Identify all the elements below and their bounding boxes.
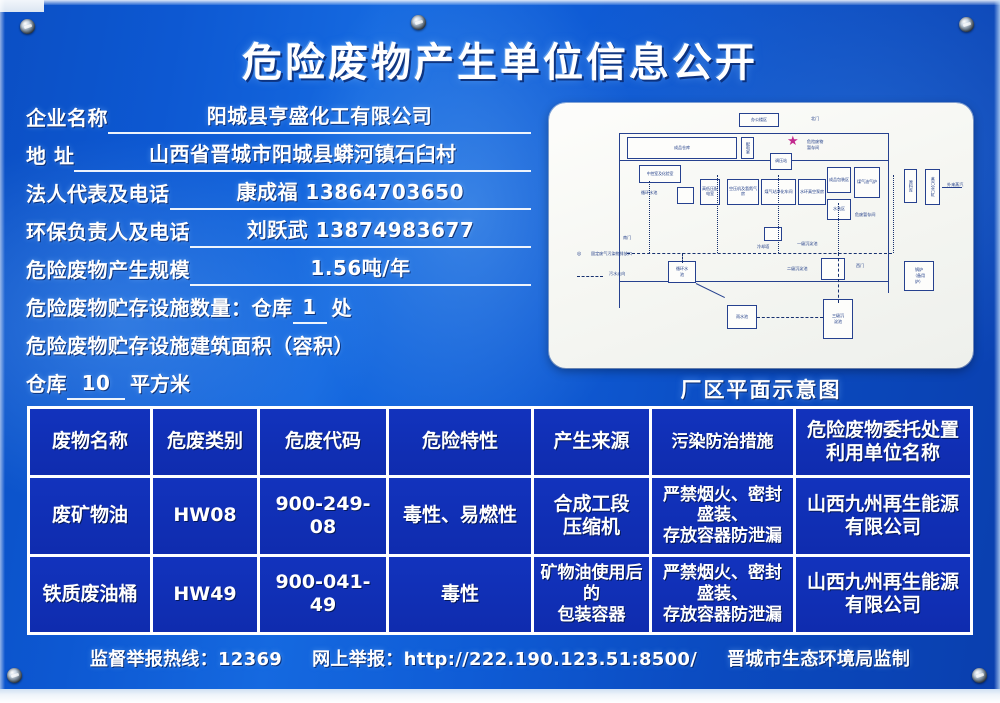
- building-circulating-water-pool: 循环水池: [668, 261, 696, 283]
- building-steam-manifold: 蒸汽分汽缸: [925, 169, 940, 205]
- building-packaging-area: 成品包装区: [827, 167, 851, 193]
- legend-dashdot-line-icon: [577, 276, 603, 277]
- building-raw-material-store: 原料库: [904, 169, 917, 203]
- cell-control-measures: 严禁烟火、密封盛装、存放容器防泄漏: [652, 557, 796, 633]
- building-gas-oil-furnace: 煤气油气炉: [854, 167, 880, 198]
- value-warehouse-area: 10: [67, 371, 125, 400]
- building-vacuum-pump-room: 水环真空泵房: [798, 179, 826, 205]
- building-cooling-water-pool: [677, 187, 694, 204]
- hazardous-waste-star-marker: ★: [787, 135, 799, 148]
- sewage-diagonal: [696, 283, 725, 298]
- header-waste-code: 危废代码: [260, 409, 389, 475]
- gate-label-south: 南门: [623, 236, 631, 241]
- info-row-company-name: 企业名称 阳城县亨盛化工有限公司: [26, 96, 531, 134]
- arrow-external-steam: [942, 187, 962, 188]
- table-row: 废矿物油 HW08 900-249-08 毒性、易燃性 合成工段压缩机 严禁烟火…: [30, 475, 970, 554]
- building-control-lab-room: 中控室及化验室: [639, 165, 681, 183]
- footer-online-report: 网上举报：http://222.190.123.51:8500/: [312, 645, 697, 671]
- info-row-area-value: 仓库 10 平方米: [26, 362, 531, 400]
- company-info-block: 企业名称 阳城县亨盛化工有限公司 地 址 山西省晋城市阳城县蟒河镇石臼村 法人代…: [26, 96, 531, 400]
- value-env-officer: 刘跃武 13874983677: [190, 214, 531, 248]
- cell-disposal-unit: 山西九州再生能源有限公司: [796, 557, 970, 633]
- diagram-caption: 厂区平面示意图: [549, 374, 973, 404]
- sewage-line-to-settling: [838, 253, 839, 303]
- label-storage-area: 危险废物贮存设施建筑面积（容积）: [26, 330, 354, 362]
- footer-issuer: 晋城市生态环境局监制: [727, 645, 910, 671]
- perimeter-wall-bottom: [619, 281, 889, 282]
- cell-disposal-unit: 山西九州再生能源有限公司: [796, 478, 970, 554]
- cell-source: 矿物油使用后的包装容器: [534, 557, 652, 633]
- perimeter-wall-right: [888, 133, 889, 293]
- plate-edge-bottom: [0, 689, 1000, 703]
- label-facility-count: 危险废物贮存设施数量：仓库: [26, 292, 293, 324]
- label-env-officer: 环保负责人及电话: [26, 216, 190, 248]
- building-power-distribution-room: 配电室: [741, 137, 754, 159]
- cell-hazard-property: 毒性: [389, 557, 534, 633]
- info-row-waste-scale: 危险废物产生规模 1.56吨/年: [26, 248, 531, 286]
- annotation-hazwaste-room: 危废暂存间: [855, 213, 875, 218]
- label-address: 地 址: [26, 140, 74, 172]
- footer-hotline: 监督举报热线：12369: [90, 645, 282, 671]
- annotation-primary-settling: 一级沉淀池: [797, 242, 817, 247]
- information-board: 危险废物产生单位信息公开 企业名称 阳城县亨盛化工有限公司 地 址 山西省晋城市…: [0, 0, 1000, 703]
- road-dotted-1: [649, 181, 650, 253]
- road-dotted-5: [893, 175, 894, 253]
- label-hazardous-waste-storage: 危险废物暂存间: [807, 139, 823, 151]
- plate-edge-top: [0, 0, 1000, 5]
- building-boiler-backup: 锅炉（备用炉）: [904, 261, 934, 291]
- hazardous-waste-table: 废物名称 危废类别 危废代码 危险特性 产生来源 污染防治措施 危险废物委托处置…: [27, 406, 973, 635]
- factory-layout-diagram: 成品仓库 办公楼区 配电室 北门 ★ 危险废物暂存间 中控室及化验室 循环水池 …: [549, 103, 973, 368]
- label-waste-scale: 危险废物产生规模: [26, 254, 190, 286]
- road-dotted-3: [778, 175, 779, 253]
- label-cooling-tower: 冷却塔: [757, 245, 769, 250]
- building-cooling-tower: [764, 227, 782, 241]
- plate-edge-right: [994, 0, 1000, 703]
- label-secondary-settling: 二级沉淀池: [787, 267, 807, 272]
- info-row-env-officer: 环保负责人及电话 刘跃武 13874983677: [26, 210, 531, 248]
- info-row-facility-count: 危险废物贮存设施数量：仓库 1 处: [26, 286, 531, 324]
- building-office-area: 办公楼区: [739, 113, 779, 127]
- gate-label-north: 北门: [811, 117, 819, 122]
- building-secondary-settling-tank: [821, 258, 845, 280]
- legend-text-emission-outlet: 固定废气污染物排放口: [591, 252, 632, 257]
- value-legal-rep: 康成福 13864703650: [170, 176, 532, 210]
- label-legal-rep: 法人代表及电话: [26, 178, 170, 210]
- sewage-line-main: [627, 253, 892, 254]
- building-rainwater-pool: 雨水池: [727, 305, 757, 329]
- info-row-area-label: 危险废物贮存设施建筑面积（容积）: [26, 324, 531, 362]
- sewage-line-to-circ-pool: [682, 253, 683, 263]
- building-tertiary-settling-tank: 三级沉淀池: [823, 299, 853, 339]
- cell-source: 合成工段压缩机: [534, 478, 652, 554]
- building-water-wash-area: 水洗区: [827, 199, 851, 220]
- unit-warehouse-area: 平方米: [125, 368, 190, 400]
- page-title: 危险废物产生单位信息公开: [0, 30, 1000, 88]
- cell-waste-code: 900-041-49: [260, 557, 389, 633]
- plate-edge-top-left: [0, 0, 44, 12]
- info-row-legal-rep: 法人代表及电话 康成福 13864703650: [26, 172, 531, 210]
- header-control-measures: 污染防治措施: [652, 409, 796, 475]
- value-address: 山西省晋城市阳城县蟒河镇石臼村: [74, 138, 531, 172]
- value-facility-count: 1: [293, 295, 327, 324]
- cell-waste-name: 铁质废油桶: [30, 557, 153, 633]
- cell-waste-code: 900-249-08: [260, 478, 389, 554]
- plate-edge-left: [0, 0, 5, 703]
- label-company-name: 企业名称: [26, 102, 108, 134]
- header-waste-category: 危废类别: [153, 409, 260, 475]
- footer-bar: 监督举报热线：12369 网上举报：http://222.190.123.51:…: [0, 645, 1000, 671]
- value-company-name: 阳城县亨盛化工有限公司: [108, 100, 531, 134]
- perimeter-wall-top: [619, 133, 889, 134]
- gate-label-west: 西门: [856, 264, 864, 269]
- label-warehouse: 仓库: [26, 368, 67, 400]
- header-source: 产生来源: [534, 409, 652, 475]
- info-row-address: 地 址 山西省晋城市阳城县蟒河镇石臼村: [26, 134, 531, 172]
- building-pressure-station: 调压站: [770, 153, 792, 170]
- cell-waste-category: HW08: [153, 478, 260, 554]
- road-dotted-4: [838, 203, 839, 253]
- inner-wall-upper: [619, 160, 889, 161]
- value-waste-scale: 1.56吨/年: [190, 252, 531, 286]
- cell-control-measures: 严禁烟火、密封盛装、存放容器防泄漏: [652, 478, 796, 554]
- cell-waste-name: 废矿物油: [30, 478, 153, 554]
- sewage-line-to-rain-pool: [757, 317, 823, 318]
- legend-marker-circle-icon: ◎: [577, 251, 581, 257]
- building-air-compressor-room: 空压机及氢氮气房: [727, 179, 759, 205]
- cell-hazard-property: 毒性、易燃性: [389, 478, 534, 554]
- table-header-row: 废物名称 危废类别 危废代码 危险特性 产生来源 污染防治措施 危险废物委托处置…: [30, 409, 970, 475]
- table-row: 铁质废油桶 HW49 900-041-49 毒性 矿物油使用后的包装容器 严禁烟…: [30, 554, 970, 633]
- header-disposal-unit: 危险废物委托处置利用单位名称: [796, 409, 970, 475]
- unit-facility-count: 处: [327, 292, 352, 324]
- building-finished-goods-warehouse: 成品仓库: [627, 137, 737, 159]
- cell-waste-category: HW49: [153, 557, 260, 633]
- road-dotted-2: [717, 175, 718, 253]
- mounting-bolt-top-center: [411, 15, 426, 30]
- legend-text-sewage-flow: 污水走向: [609, 272, 625, 277]
- header-hazard-property: 危险特性: [389, 409, 534, 475]
- header-waste-name: 废物名称: [30, 409, 153, 475]
